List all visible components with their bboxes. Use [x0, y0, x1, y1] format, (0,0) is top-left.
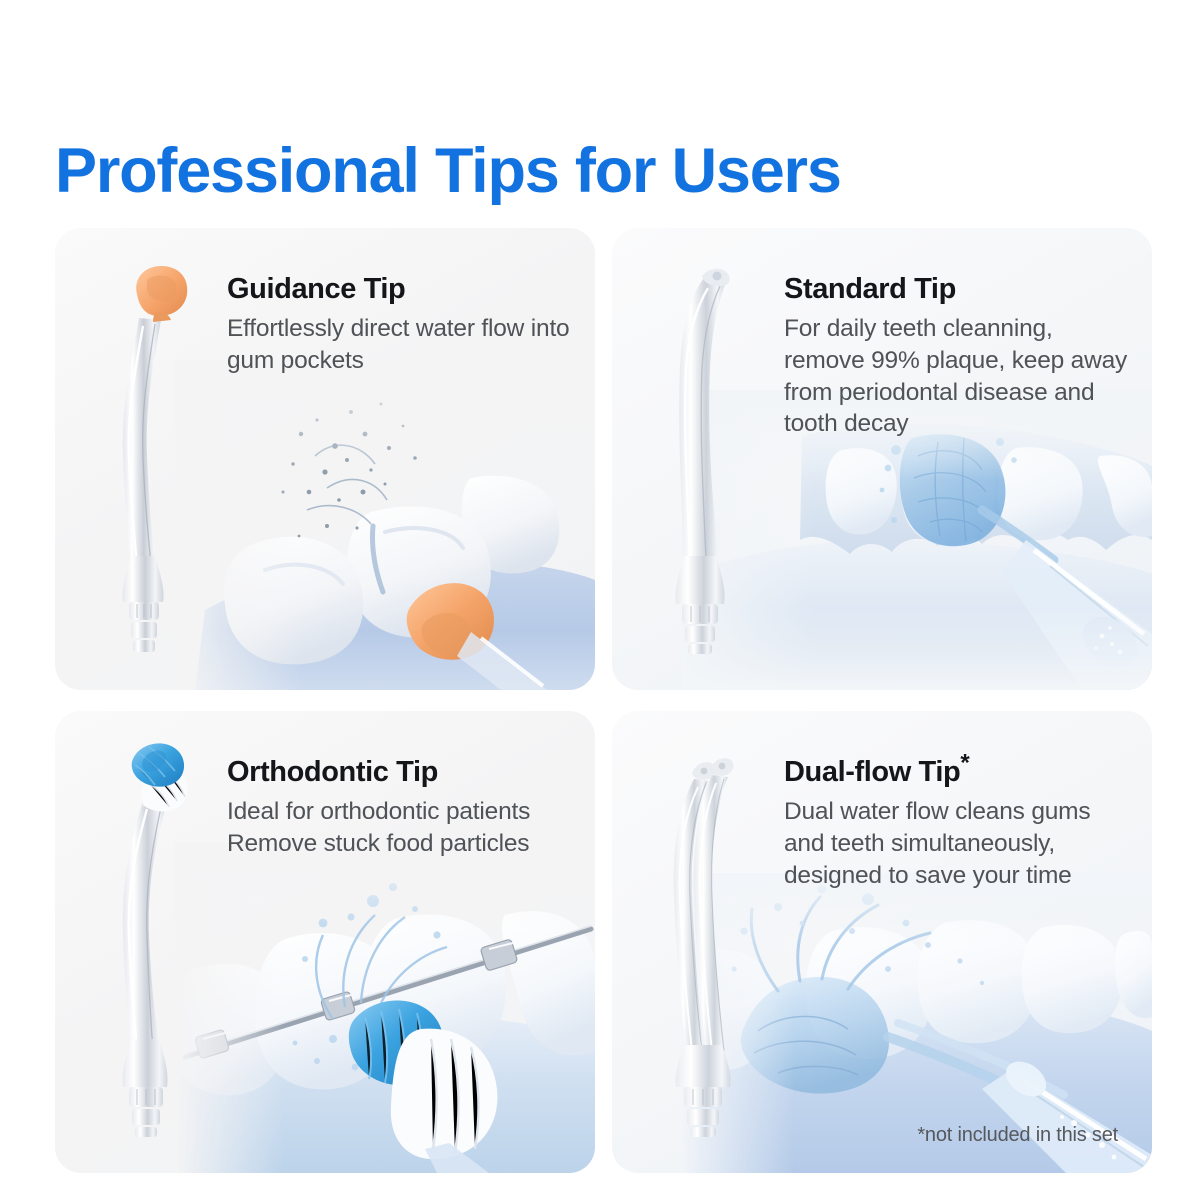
card-description-guidance: Effortlessly direct water flow into gum … — [227, 313, 572, 377]
card-description-standard: For daily teeth cleanning, remove 99% pl… — [784, 313, 1129, 440]
card-standard-tip[interactable]: Standard Tip For daily teeth cleanning, … — [612, 228, 1152, 690]
page-title: Professional Tips for Users — [55, 138, 841, 204]
card-text-dual-flow: Dual-flow Tip* Dual water flow cleans gu… — [784, 757, 1129, 891]
card-title-guidance: Guidance Tip — [227, 274, 572, 306]
card-title-dual-flow-label: Dual-flow Tip — [784, 756, 960, 788]
card-text-standard: Standard Tip For daily teeth cleanning, … — [784, 274, 1129, 440]
braces-brush-photo — [175, 843, 595, 1173]
tips-card-grid: Guidance Tip Effortlessly direct water f… — [55, 228, 1152, 1173]
title-asterisk: * — [960, 749, 969, 776]
card-text-guidance: Guidance Tip Effortlessly direct water f… — [227, 274, 572, 377]
guidance-tip-nozzle-icon — [81, 256, 221, 656]
teeth-water-spray-photo — [175, 360, 595, 690]
card-title-standard: Standard Tip — [784, 274, 1129, 306]
card-description-orthodontic: Ideal for orthodontic patients Remove st… — [227, 796, 572, 860]
card-text-orthodontic: Orthodontic Tip Ideal for orthodontic pa… — [227, 757, 572, 860]
dual-flow-footnote: *not included in this set — [917, 1124, 1118, 1147]
standard-tip-nozzle-icon — [638, 256, 778, 656]
infographic-page: Professional Tips for Users — [0, 0, 1200, 1200]
dual-flow-tip-nozzle-icon — [638, 739, 778, 1139]
card-guidance-tip[interactable]: Guidance Tip Effortlessly direct water f… — [55, 228, 595, 690]
card-dual-flow-tip[interactable]: Dual-flow Tip* Dual water flow cleans gu… — [612, 711, 1152, 1173]
card-title-orthodontic: Orthodontic Tip — [227, 757, 572, 789]
card-title-dual-flow: Dual-flow Tip* — [784, 757, 1129, 789]
card-orthodontic-tip[interactable]: Orthodontic Tip Ideal for orthodontic pa… — [55, 711, 595, 1173]
orthodontic-tip-nozzle-icon — [81, 739, 221, 1139]
card-description-dual-flow: Dual water flow cleans gums and teeth si… — [784, 796, 1129, 892]
